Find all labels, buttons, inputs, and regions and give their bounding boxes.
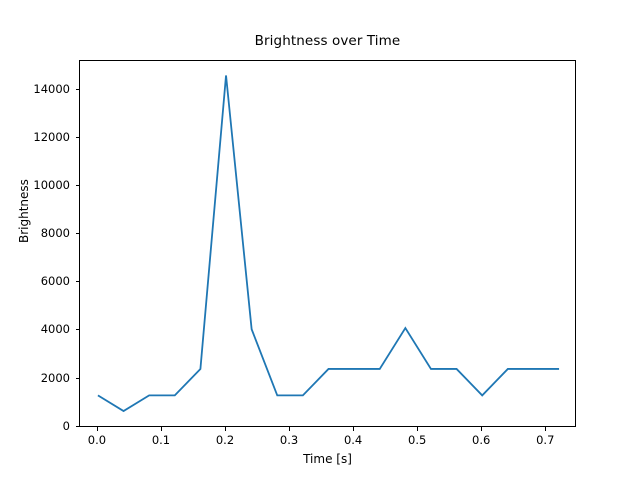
x-tick-label: 0.1 [152,433,170,447]
y-tick-label: 6000 [0,274,70,288]
line-series-svg [80,61,577,428]
y-tick-label: 2000 [0,371,70,385]
x-tick-label: 0.4 [344,433,362,447]
y-tick-label: 10000 [0,178,70,192]
x-tick-label: 0.5 [408,433,426,447]
x-axis-label: Time [s] [79,452,576,466]
chart-title: Brightness over Time [79,33,576,49]
y-tick-label: 4000 [0,322,70,336]
plot-area [79,60,576,427]
x-tick-label: 0.7 [536,433,554,447]
y-tick-label: 14000 [0,82,70,96]
x-tick-label: 0.0 [88,433,106,447]
x-tick-label: 0.3 [280,433,298,447]
x-tick-label: 0.6 [472,433,490,447]
brightness-line [98,75,559,411]
y-tick-label: 8000 [0,226,70,240]
x-tick-label: 0.2 [216,433,234,447]
y-tick-label: 0 [0,419,70,433]
chart-figure: Brightness over Time Brightness Time [s]… [0,0,640,480]
y-tick-label: 12000 [0,130,70,144]
